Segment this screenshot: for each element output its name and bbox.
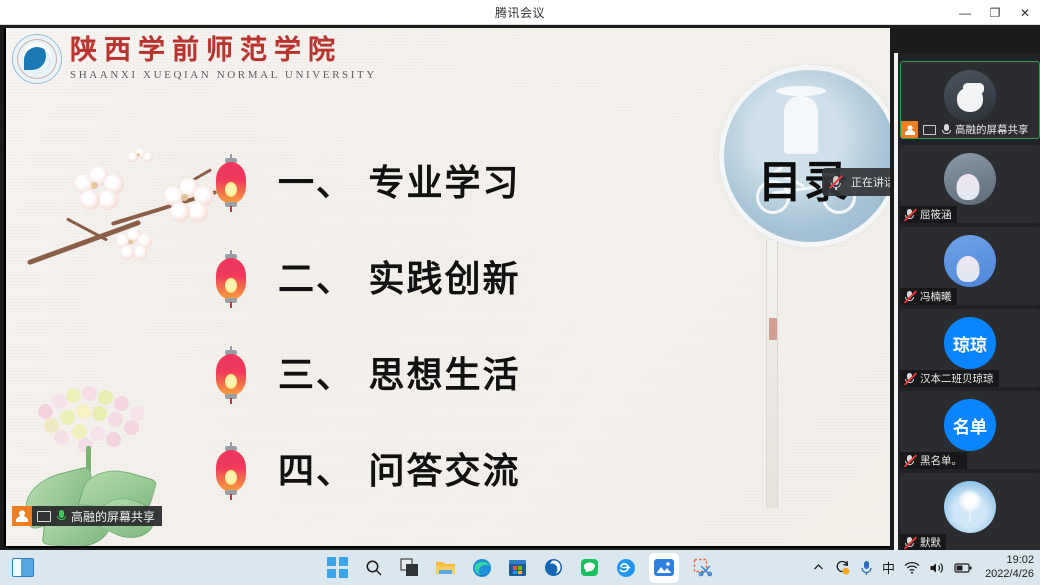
mic-muted-icon — [903, 372, 917, 386]
photo-viewer-icon[interactable] — [649, 553, 679, 583]
participants-panel[interactable]: 高融的屏幕共享 屈筱涵 冯楠曦 琼琼 汉本二班贝琼琼 名单 — [894, 53, 1040, 550]
host-person-icon — [12, 506, 32, 526]
toc-item-2-label: 二、 实践创新 — [278, 259, 521, 300]
participant-name: 屈筱涵 — [920, 207, 952, 222]
participant-tile-4[interactable]: 名单 黑名单。 — [900, 391, 1040, 469]
task-view-icon[interactable] — [397, 555, 422, 580]
participant-name: 默默 — [920, 535, 941, 550]
system-tray: 中 19:02 2022/4/26 — [812, 550, 1034, 585]
fan-handle — [766, 240, 778, 508]
participant-name-bar: 冯楠曦 — [900, 288, 957, 305]
panel-scrollbar[interactable] — [894, 53, 898, 550]
onedrive-sync-icon[interactable] — [834, 550, 851, 585]
avatar: 琼琼 — [944, 317, 996, 369]
red-lantern-icon — [216, 446, 246, 498]
participant-name: 冯楠曦 — [920, 289, 952, 304]
participant-name-bar: 汉本二班贝琼琼 — [900, 370, 999, 387]
taskbar-left-group — [10, 550, 35, 585]
red-lantern-icon — [216, 350, 246, 402]
toc-item-1-label: 一、 专业学习 — [278, 163, 521, 204]
close-button[interactable]: ✕ — [1010, 0, 1040, 25]
university-header: 陕西学前师范学院 SHAANXI XUEQIAN NORMAL UNIVERSI… — [12, 34, 377, 84]
file-explorer-icon[interactable] — [433, 555, 458, 580]
taskbar-clock[interactable]: 19:02 2022/4/26 — [982, 554, 1034, 582]
participant-tile-2[interactable]: 冯楠曦 — [900, 227, 1040, 305]
participant-name: 汉本二班贝琼琼 — [920, 371, 994, 386]
hydrangea-petals — [32, 386, 162, 454]
toc-item-4: 四、 问答交流 — [278, 442, 521, 494]
taskbar-app-group — [325, 553, 715, 583]
window-title-bar: 腾讯会议 — ❐ ✕ — [0, 0, 1040, 25]
avatar — [944, 235, 996, 287]
microsoft-store-icon[interactable] — [505, 555, 530, 580]
start-button[interactable] — [325, 555, 350, 580]
screen-share-icon — [923, 125, 936, 135]
tencent-meeting-icon[interactable] — [613, 555, 638, 580]
wifi-icon[interactable] — [904, 550, 920, 585]
ime-indicator[interactable]: 中 — [882, 550, 895, 585]
window-controls: — ❐ ✕ — [950, 0, 1040, 25]
battery-icon[interactable] — [954, 550, 973, 585]
participant-name-bar: 黑名单。 — [900, 452, 967, 469]
presentation-slide: 陕西学前师范学院 SHAANXI XUEQIAN NORMAL UNIVERSI… — [6, 28, 890, 546]
speaking-toolbar[interactable]: 正在讲话: 高融 ↰ — [822, 168, 890, 196]
university-name-cn: 陕西学前师范学院 — [70, 37, 377, 65]
edge-browser-icon[interactable] — [469, 555, 494, 580]
volume-icon[interactable] — [929, 550, 945, 585]
speaking-status-text: 正在讲话: 高融 — [851, 174, 890, 190]
mic-muted-icon[interactable] — [828, 175, 843, 190]
show-hidden-icons[interactable] — [812, 550, 825, 585]
clock-date: 2022/4/26 — [985, 568, 1034, 582]
participant-name: 高融的屏幕共享 — [955, 122, 1029, 137]
toc-item-2: 二、 实践创新 — [278, 250, 521, 302]
shared-screen-stage[interactable]: 陕西学前师范学院 SHAANXI XUEQIAN NORMAL UNIVERSI… — [4, 28, 890, 548]
participant-name-bar: 默默 — [900, 534, 946, 550]
participant-name: 黑名单。 — [920, 453, 962, 468]
host-person-icon — [901, 121, 918, 138]
wechat-icon[interactable] — [577, 555, 602, 580]
participant-name-bar: 屈筱涵 — [900, 206, 957, 223]
minimize-button[interactable]: — — [950, 0, 980, 25]
maximize-button[interactable]: ❐ — [980, 0, 1010, 25]
participant-tile-3[interactable]: 琼琼 汉本二班贝琼琼 — [900, 309, 1040, 387]
avatar — [944, 153, 996, 205]
widgets-panel-icon[interactable] — [10, 555, 35, 580]
participant-name-bar: 高融的屏幕共享 — [901, 121, 1029, 138]
search-icon[interactable] — [361, 555, 386, 580]
mic-muted-icon — [903, 208, 917, 222]
windows-taskbar: 中 19:02 2022/4/26 — [0, 550, 1040, 585]
microphone-icon[interactable] — [860, 550, 873, 585]
toc-item-4-label: 四、 问答交流 — [278, 451, 521, 492]
university-seal-icon — [12, 34, 62, 84]
participant-tile-5[interactable]: 默默 — [900, 473, 1040, 550]
meeting-area: 陕西学前师范学院 SHAANXI XUEQIAN NORMAL UNIVERSI… — [0, 25, 1040, 550]
toc-item-3-label: 三、 思想生活 — [278, 355, 521, 396]
red-lantern-icon — [216, 254, 246, 306]
mic-on-icon — [55, 509, 67, 523]
toc-item-3: 三、 思想生活 — [278, 346, 521, 398]
university-names: 陕西学前师范学院 SHAANXI XUEQIAN NORMAL UNIVERSI… — [70, 37, 377, 80]
toc-item-1: 一、 专业学习 — [278, 154, 521, 206]
avatar: 名单 — [944, 399, 996, 451]
edge-dev-icon[interactable] — [541, 555, 566, 580]
mic-muted-icon — [903, 290, 917, 304]
red-lantern-icon — [216, 158, 246, 210]
snipping-tool-icon[interactable] — [690, 555, 715, 580]
participant-tile-1[interactable]: 屈筱涵 — [900, 145, 1040, 223]
screen-share-icon — [37, 511, 51, 522]
scrollbar-thumb[interactable] — [894, 53, 898, 550]
mic-muted-icon — [903, 454, 917, 468]
participant-tile-0[interactable]: 高融的屏幕共享 — [900, 61, 1040, 139]
avatar — [944, 70, 996, 122]
screen-share-label: 高融的屏幕共享 — [71, 508, 162, 525]
clock-time: 19:02 — [1006, 554, 1034, 568]
screen-share-indicator: 高融的屏幕共享 — [12, 506, 162, 526]
mic-muted-icon — [903, 536, 917, 550]
mic-on-icon — [941, 123, 952, 136]
window-title: 腾讯会议 — [495, 4, 545, 21]
avatar — [944, 481, 996, 533]
university-name-en: SHAANXI XUEQIAN NORMAL UNIVERSITY — [70, 69, 377, 81]
